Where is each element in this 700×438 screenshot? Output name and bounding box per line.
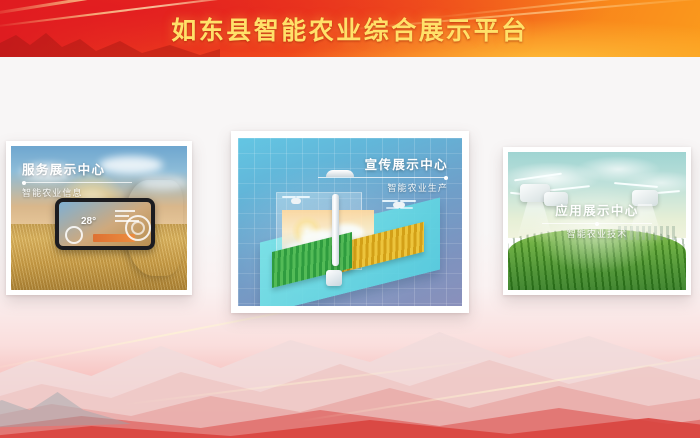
card-application-caption: 应用展示中心 智能农业技术 xyxy=(542,200,652,240)
drone-body xyxy=(291,198,301,204)
card-service-title: 服务展示中心 xyxy=(22,159,132,178)
caption-divider xyxy=(542,223,652,224)
drone-icon-left xyxy=(282,192,310,206)
drone-rotor xyxy=(386,207,399,209)
caption-divider xyxy=(22,182,132,183)
card-application-title: 应用展示中心 xyxy=(542,200,652,219)
header-banner: 如东县智能农业综合展示平台 xyxy=(0,0,700,57)
phone-hud-ring-right-inner xyxy=(131,221,145,235)
drone-rotor xyxy=(400,207,413,209)
smartphone-graphic: 28° xyxy=(55,198,155,250)
drone-blade xyxy=(614,182,658,188)
page-title: 如东县智能农业综合展示平台 xyxy=(0,0,700,57)
drone-rotor xyxy=(400,200,416,202)
drone-rotor xyxy=(282,196,296,198)
equipment-box xyxy=(326,270,342,286)
card-service-caption: 服务展示中心 智能农业信息 xyxy=(22,159,132,199)
irrigation-pole xyxy=(332,194,339,266)
card-publicity-subtitle: 智能农业生产 xyxy=(318,181,448,194)
caption-divider xyxy=(318,177,448,178)
phone-hud-ring-left xyxy=(65,226,83,244)
card-publicity[interactable]: 宣传展示中心 智能农业生产 xyxy=(231,131,469,313)
card-publicity-caption: 宣传展示中心 智能农业生产 xyxy=(318,154,448,194)
drone-icon-right xyxy=(382,196,416,212)
card-service-subtitle: 智能农业信息 xyxy=(22,186,132,199)
card-service[interactable]: 28° 服务展示中心 智能农业信息 xyxy=(6,141,192,295)
drone-rotor xyxy=(296,196,310,198)
page-root: 如东县智能农业综合展示平台 28° xyxy=(0,0,700,438)
drone-rotor xyxy=(382,200,398,202)
phone-hud-bar xyxy=(115,215,129,217)
card-application[interactable]: 应用展示中心 智能农业技术 xyxy=(503,147,691,295)
phone-hud-bar xyxy=(115,210,135,212)
drone-blade xyxy=(514,173,562,182)
card-application-image: 应用展示中心 智能农业技术 xyxy=(508,152,686,290)
phone-temperature-reading: 28° xyxy=(81,216,96,227)
card-publicity-title: 宣传展示中心 xyxy=(318,154,448,173)
card-application-subtitle: 智能农业技术 xyxy=(542,227,652,240)
card-publicity-image: 宣传展示中心 智能农业生产 xyxy=(238,138,462,306)
card-service-image: 28° 服务展示中心 智能农业信息 xyxy=(11,146,187,290)
